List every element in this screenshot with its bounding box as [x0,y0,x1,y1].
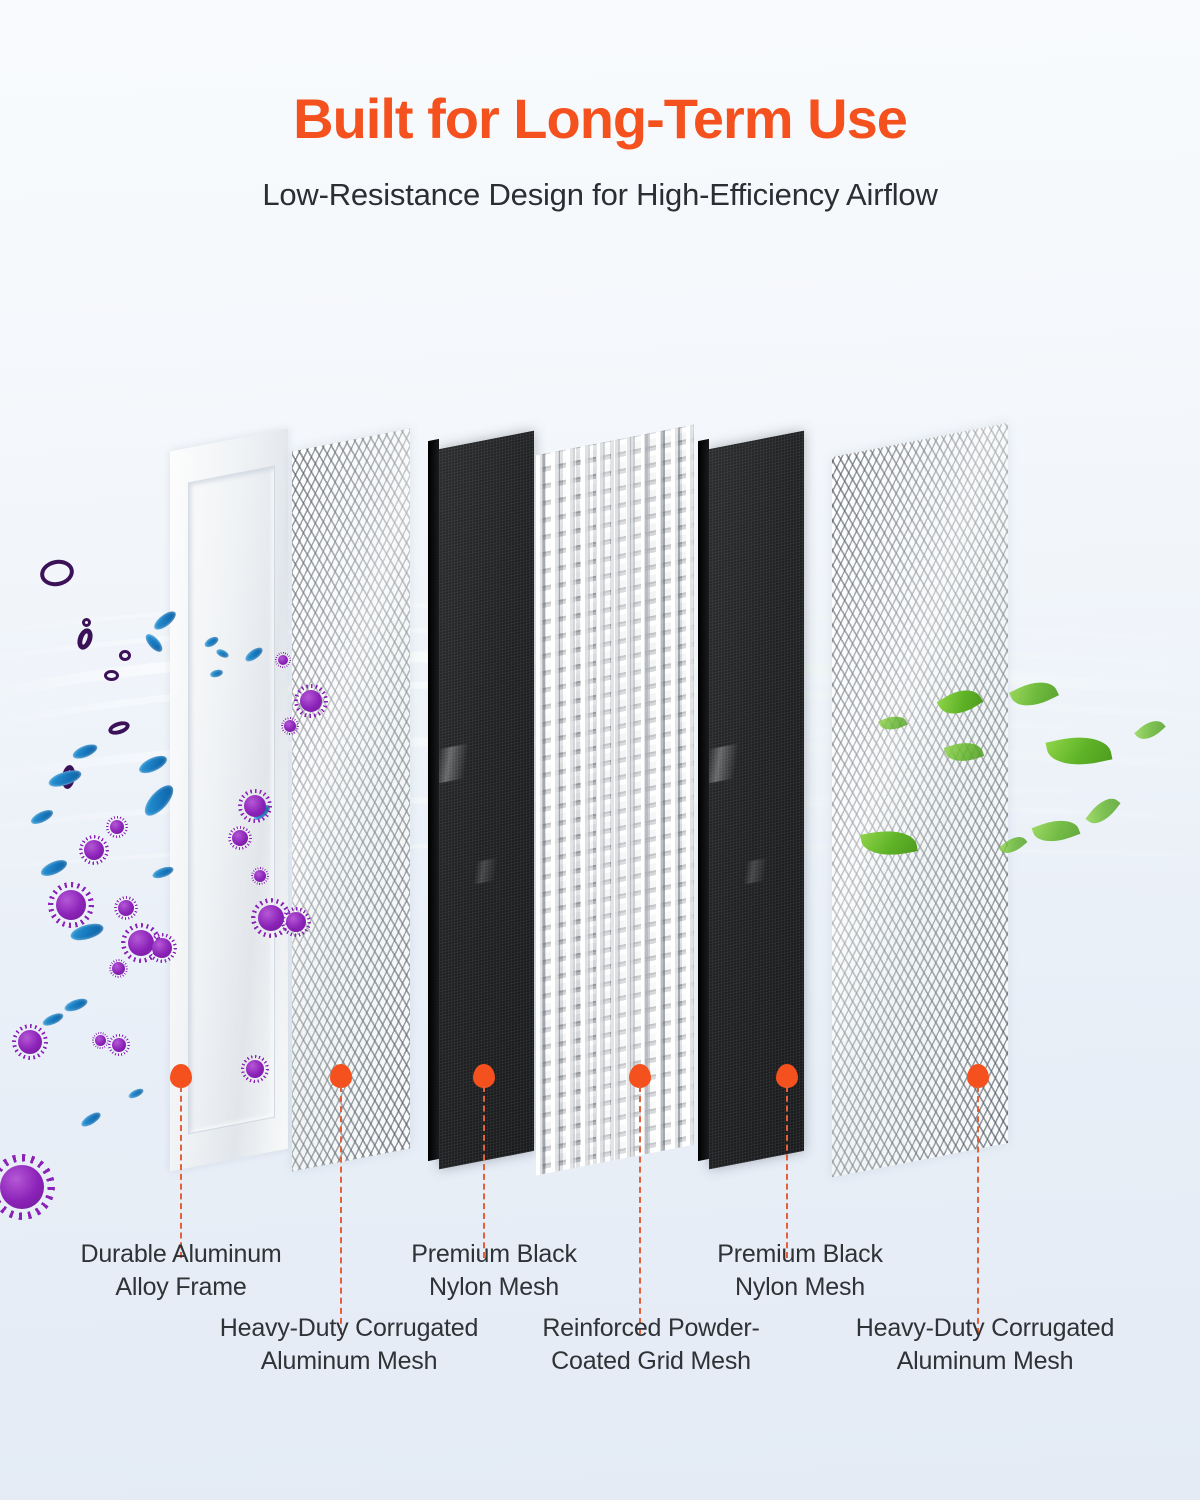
leaf-icon [1046,730,1113,772]
virus-particle-icon [112,962,125,975]
callout-dot-icon [473,1064,495,1088]
page-title: Built for Long-Term Use [0,90,1200,149]
virus-particle-icon [128,930,154,956]
leaf-icon [1085,792,1120,830]
header: Built for Long-Term Use Low-Resistance D… [0,0,1200,213]
bacteria-rod-icon [41,1011,65,1028]
virus-particle-icon [56,890,86,920]
callout-leader-line [639,1086,641,1334]
bacteria-rod-icon [63,996,89,1014]
bacteria-rod-icon [39,857,69,879]
virus-particle-icon [18,1030,42,1054]
callout-dot-icon [776,1064,798,1088]
callout-label-heavy-duty-corrugated-aluminum-mesh-1: Heavy-Duty Corrugated Aluminum Mesh [186,1312,512,1377]
callout-dot-icon [967,1064,989,1088]
callout-label-premium-black-nylon-mesh-1: Premium Black Nylon Mesh [354,1238,634,1303]
virus-ring-icon [75,626,96,651]
layer-durable-aluminum-alloy-frame[interactable] [170,440,288,1160]
label-line-1: Heavy-Duty Corrugated [822,1312,1148,1345]
leaf-icon [1032,813,1081,849]
layer-premium-black-nylon-mesh-1[interactable] [428,440,534,1160]
bacteria-rod-icon [127,1087,144,1100]
virus-ring-icon [82,618,91,627]
bacteria-rod-icon [137,752,170,776]
nylon-panel-edge [698,439,709,1161]
layer-premium-black-nylon-mesh-2[interactable] [698,440,804,1160]
leaf-icon [1134,715,1166,746]
leaf-icon [1009,674,1059,715]
label-line-1: Durable Aluminum [41,1238,321,1271]
label-line-1: Heavy-Duty Corrugated [186,1312,512,1345]
bacteria-rod-icon [71,742,99,762]
callout-dot-icon [629,1064,651,1088]
virus-particle-icon [95,1035,106,1046]
nylon-mesh-highlight [439,431,534,1169]
layer-reinforced-powder-coated-grid-mesh[interactable] [536,440,694,1160]
virus-particle-icon [118,900,134,916]
bacteria-rod-icon [143,631,165,654]
virus-ring-icon [38,557,77,590]
virus-particle-icon [152,938,172,958]
page-subtitle: Low-Resistance Design for High-Efficienc… [0,177,1200,213]
aluminum-mesh-sheen [292,429,410,1172]
bacteria-rod-icon [29,807,55,827]
label-line-1: Premium Black [354,1238,634,1271]
virus-particle-icon [84,840,104,860]
label-line-2: Nylon Mesh [660,1271,940,1304]
virus-particle-icon [0,1165,44,1209]
callout-dot-icon [330,1064,352,1088]
grid-mesh-corrugation [536,425,694,1176]
callout-dot-icon [170,1064,192,1088]
nylon-panel-edge [428,439,439,1161]
label-line-2: Alloy Frame [41,1271,321,1304]
callout-label-heavy-duty-corrugated-aluminum-mesh-2: Heavy-Duty Corrugated Aluminum Mesh [822,1312,1148,1377]
bacteria-rod-icon [47,767,83,790]
virus-ring-icon [119,650,131,661]
virus-particle-icon [112,1038,126,1052]
label-line-1: Reinforced Powder- [518,1312,784,1345]
callout-leader-line [180,1086,182,1258]
callout-label-durable-aluminum-alloy-frame: Durable Aluminum Alloy Frame [41,1238,321,1303]
callout-leader-line [786,1086,788,1258]
label-line-2: Aluminum Mesh [186,1345,512,1378]
bacteria-rod-icon [69,921,106,944]
bacteria-rod-icon [79,1110,102,1129]
callout-leader-line [483,1086,485,1258]
frame-inner-opening [188,466,275,1135]
label-line-2: Aluminum Mesh [822,1345,1148,1378]
callout-leader-line [340,1086,342,1334]
label-line-2: Coated Grid Mesh [518,1345,784,1378]
virus-particle-icon [110,820,124,834]
virus-ring-icon [104,670,119,681]
virus-ring-icon [60,764,76,790]
label-line-2: Nylon Mesh [354,1271,634,1304]
layer-heavy-duty-corrugated-aluminum-mesh-1[interactable] [292,440,410,1160]
virus-ring-icon [107,719,132,737]
callout-label-reinforced-powder-coated-grid-mesh: Reinforced Powder- Coated Grid Mesh [518,1312,784,1377]
callout-leader-line [977,1086,979,1334]
label-line-1: Premium Black [660,1238,940,1271]
callout-label-premium-black-nylon-mesh-2: Premium Black Nylon Mesh [660,1238,940,1303]
layer-heavy-duty-corrugated-aluminum-mesh-2[interactable] [832,440,1008,1160]
nylon-mesh-highlight [709,431,804,1169]
